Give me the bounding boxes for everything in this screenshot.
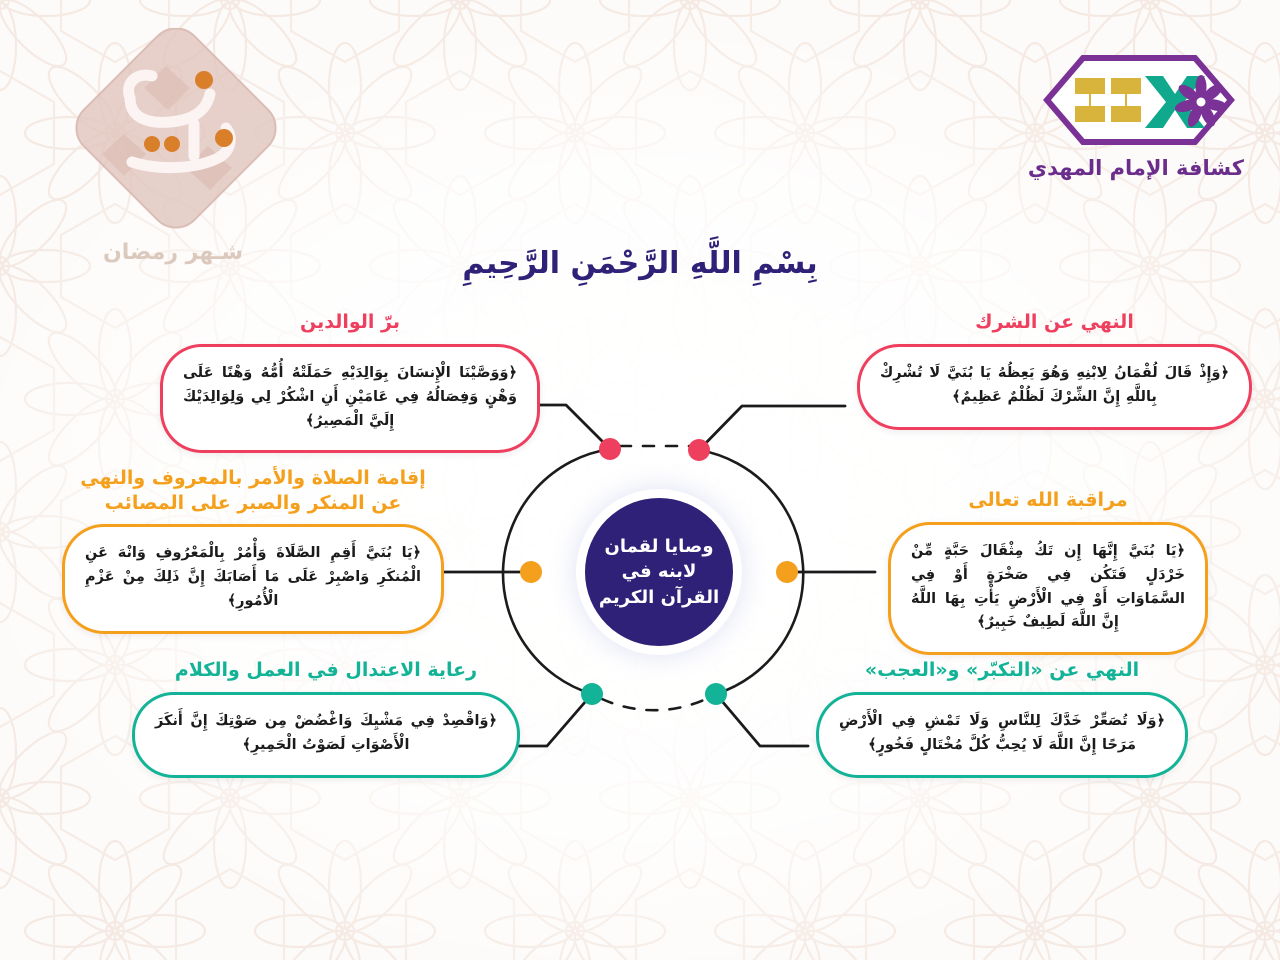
branch-riayat-al-itidal[interactable]: رعاية الاعتدال في العمل والكلام ﴿وَاقْصِ… — [132, 658, 520, 778]
branch-card[interactable]: ﴿وَلَا تُصَعِّرْ خَدَّكَ لِلنَّاسِ وَلَا… — [816, 692, 1188, 778]
khayr-zad-watermark: شـهر رمضان — [58, 28, 298, 278]
branch-card[interactable]: ﴿وَإِذْ قَالَ لُقْمَانُ لِابْنِهِ وَهُوَ… — [857, 344, 1252, 430]
node-dot-salah — [520, 561, 542, 583]
khayr-zad-logo-icon — [58, 28, 298, 238]
branch-verse: ﴿وَلَا تُصَعِّرْ خَدَّكَ لِلنَّاسِ وَلَا… — [839, 710, 1165, 758]
branch-title: برّ الوالدين — [160, 310, 540, 335]
branch-verse: ﴿يَا بُنَيَّ إِنَّهَا إِن تَكُ مِثْقَالَ… — [911, 540, 1185, 636]
leader-shirk — [699, 406, 845, 450]
basmala-heading: بِسْمِ اللَّهِ الرَّحْمَنِ الرَّحِيمِ — [0, 246, 1280, 281]
node-dot-muraqaba — [776, 561, 798, 583]
branch-card[interactable]: ﴿يَا بُنَيَّ إِنَّهَا إِن تَكُ مِثْقَالَ… — [888, 522, 1208, 656]
branch-title: رعاية الاعتدال في العمل والكلام — [132, 658, 520, 683]
branch-title: مراقبة الله تعالى — [888, 488, 1208, 513]
branch-verse: ﴿وَوَصَّيْنَا الْإِنسَانَ بِوَالِدَيْهِ … — [183, 362, 517, 434]
branch-title: النهي عن «التكبّر» و«العجب» — [816, 658, 1188, 683]
scouts-organisation-name: كشافة الإمام المهدي — [1034, 156, 1244, 180]
ring-dash-bottom — [602, 699, 706, 710]
branch-iqamat-as-salah[interactable]: إقامة الصلاة والأمر بالمعروف والنهي عن ا… — [62, 466, 444, 634]
leader-takabbur — [716, 694, 808, 746]
scouts-emblem-icon — [1041, 52, 1237, 148]
branch-card[interactable]: ﴿يَا بُنَيَّ أَقِمِ الصَّلَاةَ وَأْمُرْ … — [62, 524, 444, 634]
branch-verse: ﴿وَاقْصِدْ فِي مَشْيِكَ وَاغْضُضْ مِن صَ… — [155, 710, 497, 758]
branch-title: إقامة الصلاة والأمر بالمعروف والنهي عن ا… — [62, 466, 444, 515]
node-dot-birr — [599, 438, 621, 460]
branch-verse: ﴿وَإِذْ قَالَ لُقْمَانُ لِابْنِهِ وَهُوَ… — [880, 362, 1229, 410]
branch-muraqabat-allah[interactable]: مراقبة الله تعالى ﴿يَا بُنَيَّ إِنَّهَا … — [888, 488, 1208, 655]
branch-birr-al-walidayn[interactable]: برّ الوالدين ﴿وَوَصَّيْنَا الْإِنسَانَ ب… — [160, 310, 540, 453]
node-dot-itidal — [581, 683, 603, 705]
hub-title: وصايا لقمان لابنه في القرآن الكريم — [599, 534, 719, 611]
central-hub: وصايا لقمان لابنه في القرآن الكريم — [585, 498, 733, 646]
branch-title: النهي عن الشرك — [857, 310, 1252, 335]
node-dot-takabbur — [705, 683, 727, 705]
imam-mahdi-scouts-brand: كشافة الإمام المهدي — [1034, 52, 1244, 182]
branch-nahi-an-takabbur[interactable]: النهي عن «التكبّر» و«العجب» ﴿وَلَا تُصَع… — [816, 658, 1188, 778]
branch-verse: ﴿يَا بُنَيَّ أَقِمِ الصَّلَاةَ وَأْمُرْ … — [85, 542, 421, 614]
node-dot-shirk — [688, 439, 710, 461]
branch-card[interactable]: ﴿وَوَصَّيْنَا الْإِنسَانَ بِوَالِدَيْهِ … — [160, 344, 540, 454]
branch-card[interactable]: ﴿وَاقْصِدْ فِي مَشْيِكَ وَاغْضُضْ مِن صَ… — [132, 692, 520, 778]
branch-nahi-an-shirk[interactable]: النهي عن الشرك ﴿وَإِذْ قَالَ لُقْمَانُ ل… — [857, 310, 1252, 430]
